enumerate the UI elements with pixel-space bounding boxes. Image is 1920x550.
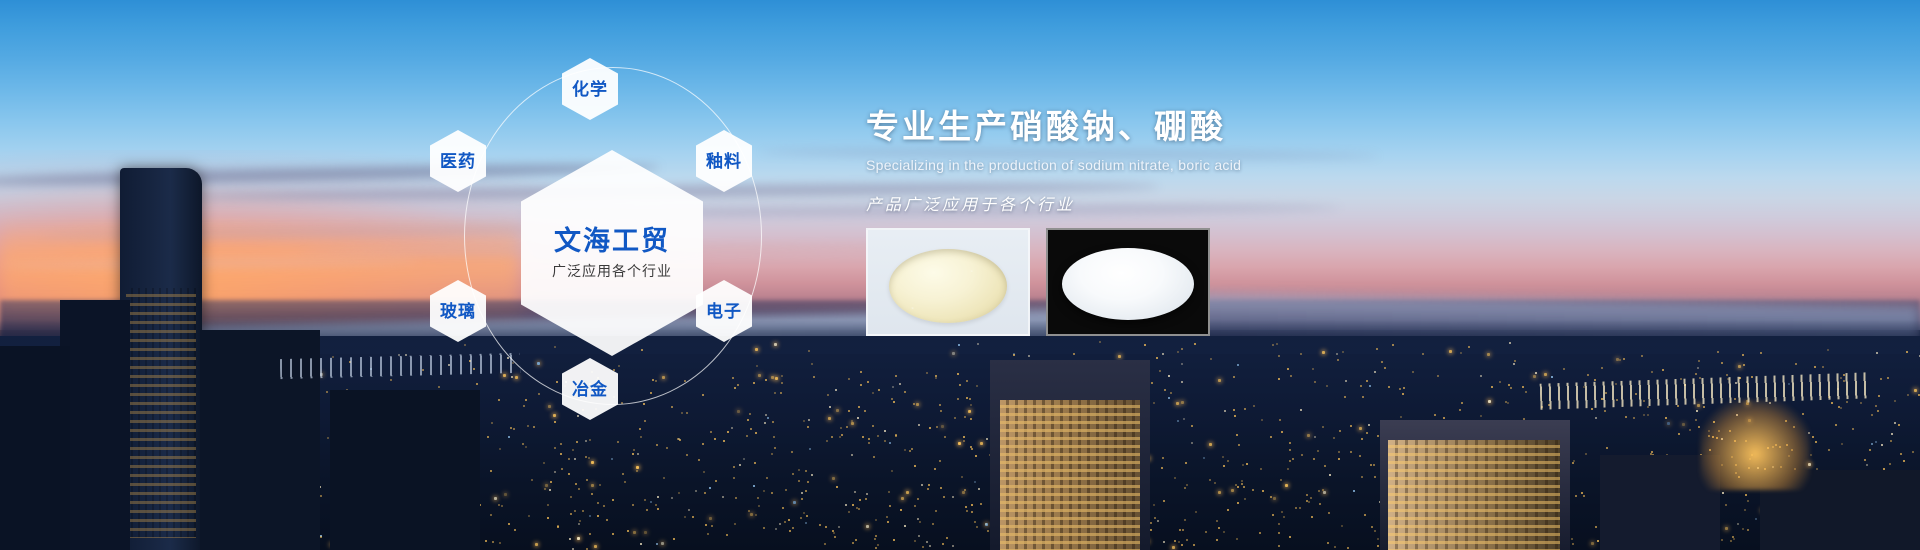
brand-subtitle: 广泛应用各个行业 — [552, 264, 672, 278]
hex-node-label: 冶金 — [572, 381, 608, 398]
powder-heap — [889, 249, 1007, 323]
hex-node-label: 医药 — [440, 153, 476, 170]
skyscraper-main — [120, 168, 202, 550]
lit-office-tower — [1000, 400, 1140, 550]
lit-office-tower — [1388, 440, 1560, 550]
hex-node-label: 化学 — [572, 81, 608, 98]
powder-heap — [1062, 248, 1194, 320]
tagline: 产品广泛应用于各个行业 — [866, 191, 1486, 215]
product-photo-sodium-nitrate[interactable] — [866, 228, 1030, 336]
illuminated-landmark — [1700, 400, 1810, 490]
building-block — [0, 346, 70, 550]
brand-name: 文海工贸 — [554, 228, 670, 255]
product-photo-strip — [866, 228, 1210, 336]
skyscraper-side — [60, 300, 130, 550]
product-photo-boric-acid[interactable] — [1046, 228, 1210, 336]
industry-hex-diagram: 文海工贸 广泛应用各个行业 化学 釉料 电子 冶金 玻璃 医药 — [432, 20, 792, 450]
headline-english: Specializing in the production of sodium… — [866, 157, 1486, 173]
hex-node-label: 釉料 — [706, 153, 742, 170]
hex-node-label: 电子 — [706, 303, 742, 320]
headline: 专业生产硝酸钠、硼酸 — [866, 100, 1486, 148]
marketing-copy: 专业生产硝酸钠、硼酸 Specializing in the productio… — [866, 100, 1486, 215]
promo-banner: 文海工贸 广泛应用各个行业 化学 釉料 电子 冶金 玻璃 医药 专业生产硝酸钠、… — [0, 0, 1920, 550]
hex-node-label: 玻璃 — [440, 303, 476, 320]
